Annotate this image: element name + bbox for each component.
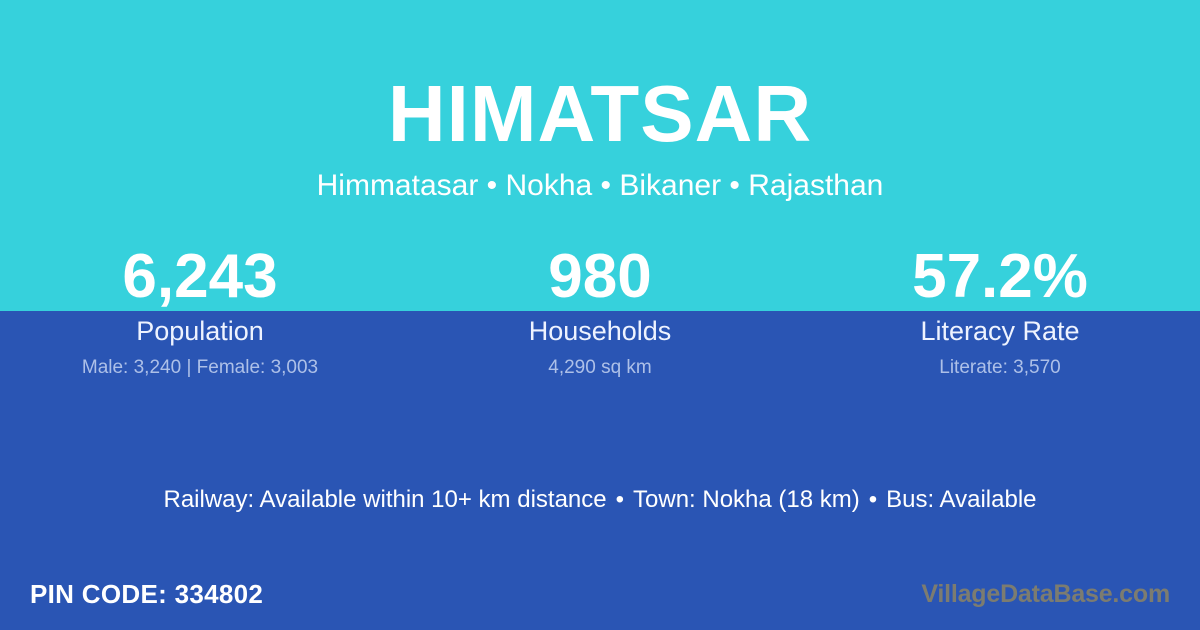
amenity-railway: Railway: Available within 10+ km distanc… xyxy=(163,486,606,513)
stat-label: Literacy Rate xyxy=(800,315,1200,347)
stat-label: Population xyxy=(0,315,400,347)
stat-literacy-rate: 57.2% Literacy Rate Literate: 3,570 xyxy=(800,244,1200,380)
site-brand-watermark: VillageDataBase.com xyxy=(921,575,1170,613)
stat-sublabel: Male: 3,240 | Female: 3,003 xyxy=(0,357,400,380)
village-info-card: HIMATSAR Himmatasar • Nokha • Bikaner • … xyxy=(0,0,1200,630)
stat-sublabel: Literate: 3,570 xyxy=(800,357,1200,380)
pin-code-label: PIN CODE: 334802 xyxy=(30,575,263,613)
stat-households: 980 Households 4,290 sq km xyxy=(400,244,800,380)
bullet-separator-icon: • xyxy=(860,484,886,515)
amenity-town: Town: Nokha (18 km) xyxy=(633,486,860,513)
stat-value: 980 xyxy=(400,244,800,309)
card-footer: PIN CODE: 334802 VillageDataBase.com xyxy=(0,575,1200,630)
amenity-bus: Bus: Available xyxy=(886,486,1036,513)
page-title: HIMATSAR xyxy=(0,76,1200,152)
stats-row: 6,243 Population Male: 3,240 | Female: 3… xyxy=(0,244,1200,380)
stat-label: Households xyxy=(400,315,800,347)
stat-sublabel: 4,290 sq km xyxy=(400,357,800,380)
card-header: HIMATSAR Himmatasar • Nokha • Bikaner • … xyxy=(0,0,1200,204)
stat-population: 6,243 Population Male: 3,240 | Female: 3… xyxy=(0,244,400,380)
bullet-separator-icon: • xyxy=(607,484,633,515)
amenities-line: Railway: Available within 10+ km distanc… xyxy=(0,484,1200,515)
stat-value: 6,243 xyxy=(0,244,400,309)
stat-value: 57.2% xyxy=(800,244,1200,309)
breadcrumb: Himmatasar • Nokha • Bikaner • Rajasthan xyxy=(0,168,1200,204)
